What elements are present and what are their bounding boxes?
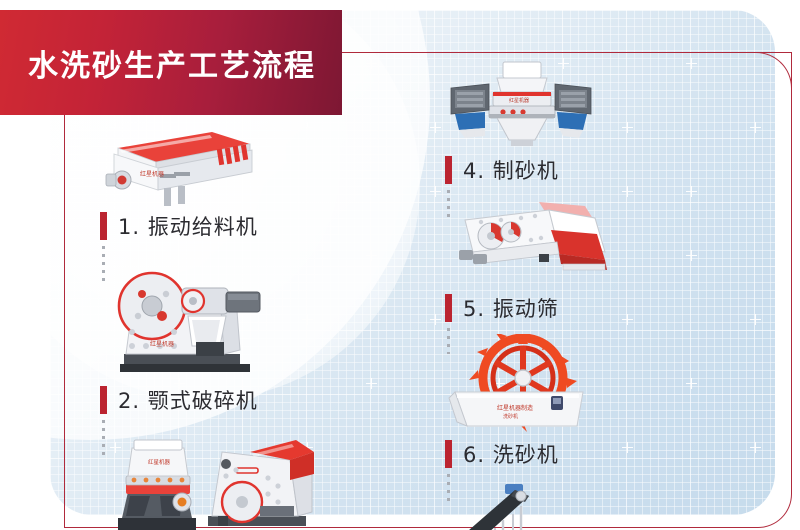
svg-text:红星机器: 红星机器 (140, 170, 164, 178)
step-text-5: 5. 振动筛 (463, 293, 559, 323)
svg-text:红星机器制造: 红星机器制造 (497, 404, 533, 412)
svg-text:红星机器: 红星机器 (150, 340, 174, 348)
svg-text:红星机器: 红星机器 (509, 97, 529, 104)
left-column: 红星机器 1. 振动给料机 (100, 118, 400, 530)
step-text-6: 6. 洗砂机 (463, 439, 559, 469)
step-label-5: 5. 振动筛 (445, 288, 745, 328)
belt-conveyor-icon (445, 482, 745, 530)
step-item-4[interactable]: 红星机器 4. 制砂机 (445, 58, 745, 190)
sand-washing-machine-icon: 红星机器制造 洗砂机 (445, 334, 745, 434)
step-item-6[interactable]: 红星机器制造 洗砂机 6. 洗砂机 (445, 334, 745, 474)
step-text-4: 4. 制砂机 (463, 155, 559, 185)
step-marker-bar-6 (445, 440, 452, 468)
step-label-2: 2. 颚式破碎机 (100, 380, 400, 420)
step-marker-bar-2 (100, 386, 107, 414)
frame-border-top (330, 52, 792, 53)
svg-text:红星机器: 红星机器 (148, 458, 171, 466)
step-item-3[interactable]: 红星机器 (100, 430, 400, 530)
right-column: 红星机器 4. 制砂机 (445, 58, 745, 530)
step-label-1: 1. 振动给料机 (100, 206, 400, 246)
vibrating-screen-icon (445, 196, 745, 288)
svg-text:洗砂机: 洗砂机 (503, 413, 518, 420)
page-root: 水洗砂生产工艺流程 (0, 0, 800, 530)
step-item-7[interactable]: 7. 输送机 (445, 482, 745, 530)
step-label-4: 4. 制砂机 (445, 150, 745, 190)
step-marker-bar-4 (445, 156, 452, 184)
sand-making-machine-icon: 红星机器 (445, 58, 745, 150)
step-item-1[interactable]: 红星机器 1. 振动给料机 (100, 118, 400, 246)
step-text-2: 2. 颚式破碎机 (118, 385, 258, 415)
step-marker-bar-5 (445, 294, 452, 322)
step-text-1: 1. 振动给料机 (118, 211, 258, 241)
vibrating-feeder-icon: 红星机器 (100, 118, 400, 206)
title-banner: 水洗砂生产工艺流程 (0, 10, 342, 115)
page-title: 水洗砂生产工艺流程 (28, 41, 316, 85)
step-item-5[interactable]: 5. 振动筛 (445, 196, 745, 328)
step-label-6: 6. 洗砂机 (445, 434, 745, 474)
jaw-crusher-icon: 红星机器 (100, 254, 400, 380)
step-marker-bar-1 (100, 212, 107, 240)
frame-corner-top-right (756, 52, 792, 88)
step-item-2[interactable]: 红星机器 2. 颚式破碎机 (100, 254, 400, 420)
cone-impact-crusher-icon: 红星机器 (100, 430, 400, 530)
